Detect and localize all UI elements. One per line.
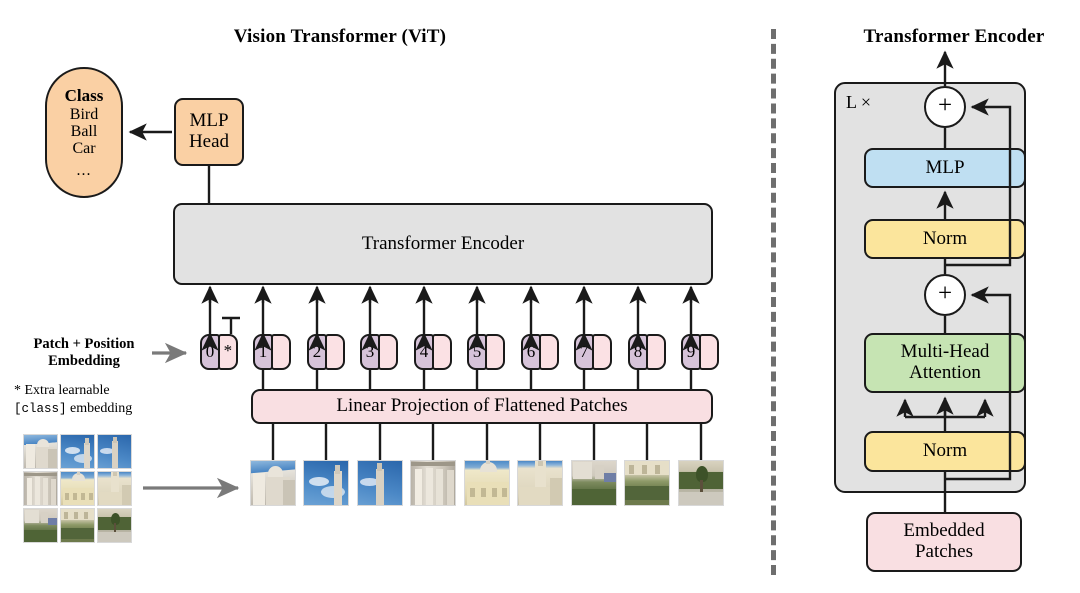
figure-canvas: Vision Transformer (ViT) Transformer Enc… [0, 0, 1080, 593]
connector-overlay [0, 0, 1080, 593]
